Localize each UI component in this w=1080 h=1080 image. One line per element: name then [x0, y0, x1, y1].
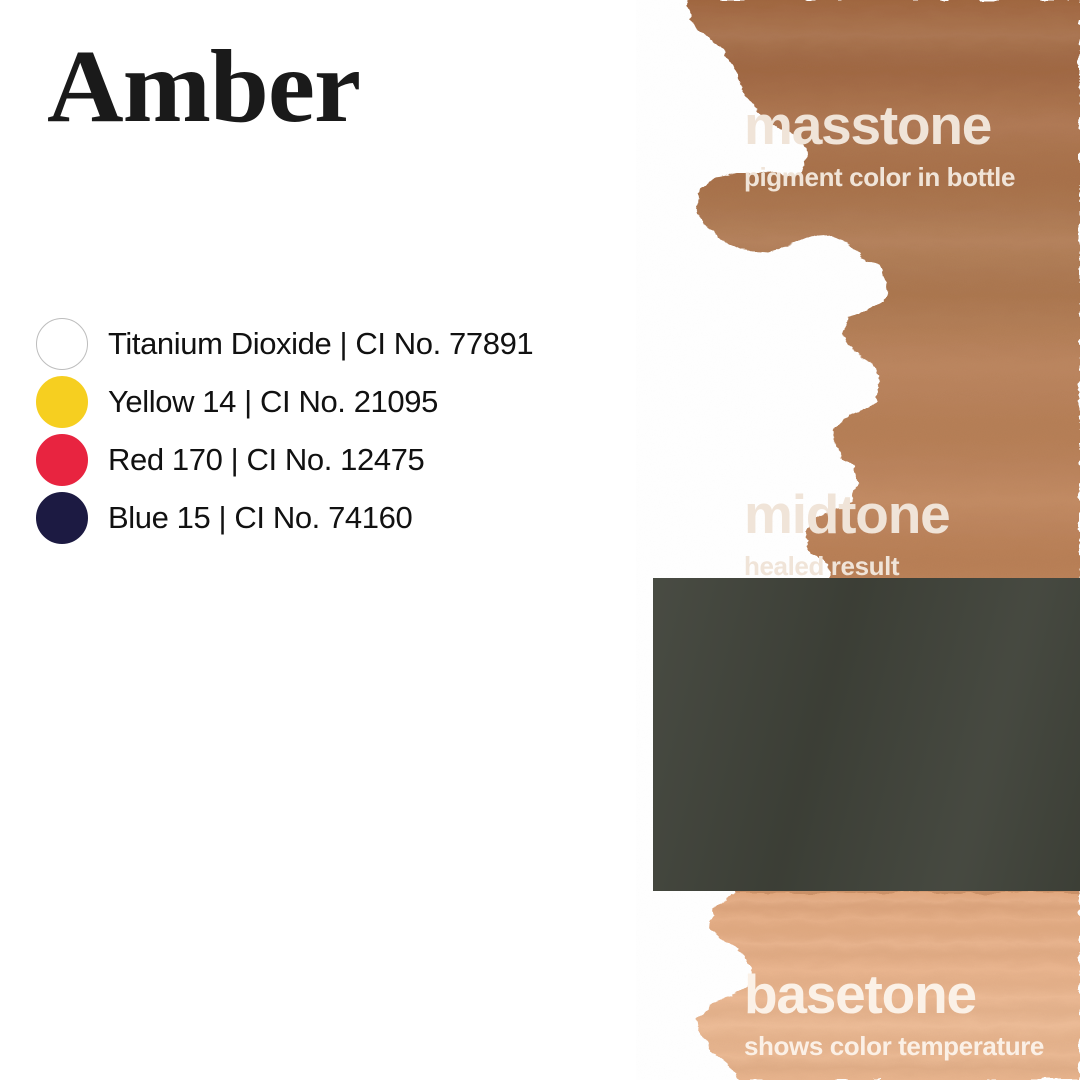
basetone-subtitle: shows color temperature: [744, 1033, 1044, 1059]
pigment-row: Yellow 14 | CI No. 21095: [36, 374, 636, 430]
pigment-label: Yellow 14 | CI No. 21095: [108, 384, 438, 420]
basetone-title: basetone: [744, 967, 1044, 1022]
masstone-label-group: masstone pigment color in bottle: [744, 98, 1015, 190]
page-title: Amber: [47, 30, 360, 144]
midtone-label-group: midtone healed result: [744, 487, 949, 579]
pigment-row: Titanium Dioxide | CI No. 77891: [36, 316, 636, 372]
pigment-swatch-red-170: [36, 434, 88, 486]
midtone-title: midtone: [744, 487, 949, 542]
pigment-row: Blue 15 | CI No. 74160: [36, 490, 636, 546]
pigment-list: Titanium Dioxide | CI No. 77891 Yellow 1…: [36, 316, 636, 548]
midtone-subtitle: healed result: [744, 553, 949, 579]
pigment-swatch-titanium-dioxide: [36, 318, 88, 370]
pigment-row: Red 170 | CI No. 12475: [36, 432, 636, 488]
basetone-label-group: basetone shows color temperature: [744, 967, 1044, 1059]
pigment-swatch-blue-15: [36, 492, 88, 544]
pigment-label: Blue 15 | CI No. 74160: [108, 500, 412, 536]
pigment-swatch-yellow-14: [36, 376, 88, 428]
healed-overlay-block: [653, 578, 1080, 891]
poster-canvas: masstone pigment color in bottle midtone…: [0, 0, 1080, 1080]
masstone-subtitle: pigment color in bottle: [744, 164, 1015, 190]
info-panel: Amber Titanium Dioxide | CI No. 77891 Ye…: [0, 0, 660, 1080]
pigment-label: Titanium Dioxide | CI No. 77891: [108, 326, 533, 362]
pigment-label: Red 170 | CI No. 12475: [108, 442, 424, 478]
masstone-title: masstone: [744, 98, 1015, 153]
